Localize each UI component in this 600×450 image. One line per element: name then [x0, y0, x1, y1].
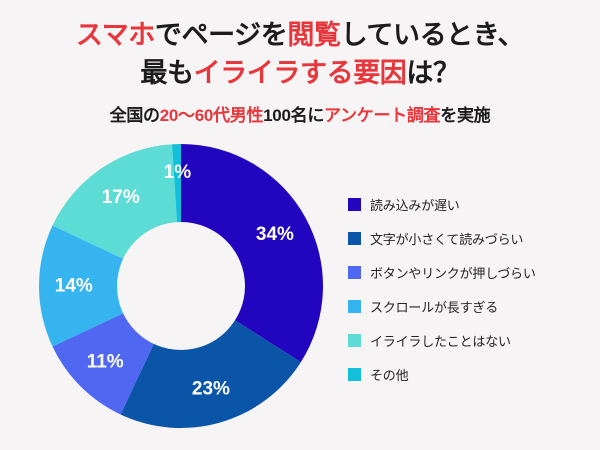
legend-swatch-icon: [348, 334, 361, 347]
legend-item-label: スクロールが長すぎる: [370, 297, 498, 316]
legend-item[interactable]: ボタンやリンクが押しづらい: [348, 261, 598, 283]
slice-value-label: 17%: [102, 187, 140, 208]
legend-item-label: その他: [370, 365, 408, 384]
donut-hole: [117, 222, 245, 350]
legend-item-label: イライラしたことはない: [370, 331, 511, 350]
chart-area: 34%23%11%14%17%1% 読み込みが遅い文字が小さくて読みづらいボタン…: [0, 140, 600, 450]
legend-item[interactable]: 文字が小さくて読みづらい: [348, 227, 598, 249]
legend-item[interactable]: 読み込みが遅い: [348, 193, 598, 215]
chart-legend: 読み込みが遅い文字が小さくて読みづらいボタンやリンクが押しづらいスクロールが長す…: [348, 193, 598, 397]
chart-header: スマホでページを閲覧しているとき、 最もイライラする要因は？ 全国の20〜60代…: [0, 0, 600, 126]
chart-subtitle: 全国の20〜60代男性100名にアンケート調査を実施: [0, 101, 600, 126]
title-segment: スマホ: [76, 20, 155, 50]
legend-item-label: ボタンやリンクが押しづらい: [370, 263, 536, 282]
slice-value-label: 11%: [87, 351, 124, 372]
slice-value-label: 23%: [192, 378, 230, 399]
donut-svg: 34%23%11%14%17%1%: [38, 143, 324, 429]
subtitle-segment: アンケート調査: [324, 106, 440, 125]
legend-item[interactable]: イライラしたことはない: [348, 329, 598, 351]
title-line-2: 最もイライラする要因は？: [0, 54, 600, 92]
subtitle-segment: を実施: [440, 106, 490, 125]
legend-swatch-icon: [348, 232, 361, 245]
legend-item-label: 文字が小さくて読みづらい: [370, 229, 523, 248]
legend-item[interactable]: スクロールが長すぎる: [348, 295, 598, 317]
donut-chart: 34%23%11%14%17%1%: [38, 143, 324, 429]
title-segment: でページを: [155, 20, 287, 50]
legend-item[interactable]: その他: [348, 363, 598, 385]
title-segment: 閲覧: [287, 20, 340, 50]
title-segment: 最も: [140, 58, 193, 88]
title-segment: は？: [406, 58, 459, 88]
legend-item-label: 読み込みが遅い: [370, 195, 460, 214]
slice-value-label: 14%: [55, 276, 93, 297]
legend-swatch-icon: [348, 300, 361, 313]
legend-swatch-icon: [348, 368, 361, 381]
legend-swatch-icon: [348, 198, 361, 211]
subtitle-segment: 100名に: [263, 106, 324, 125]
slice-value-label: 34%: [256, 224, 294, 245]
subtitle-segment: 20〜60代男性: [160, 106, 263, 125]
title-line-1: スマホでページを閲覧しているとき、: [0, 16, 600, 54]
subtitle-segment: 全国の: [110, 106, 160, 125]
title-segment: イライラする要因: [194, 58, 407, 88]
title-segment: しているとき、: [341, 20, 525, 50]
legend-swatch-icon: [348, 266, 361, 279]
slice-value-label: 1%: [164, 162, 192, 183]
